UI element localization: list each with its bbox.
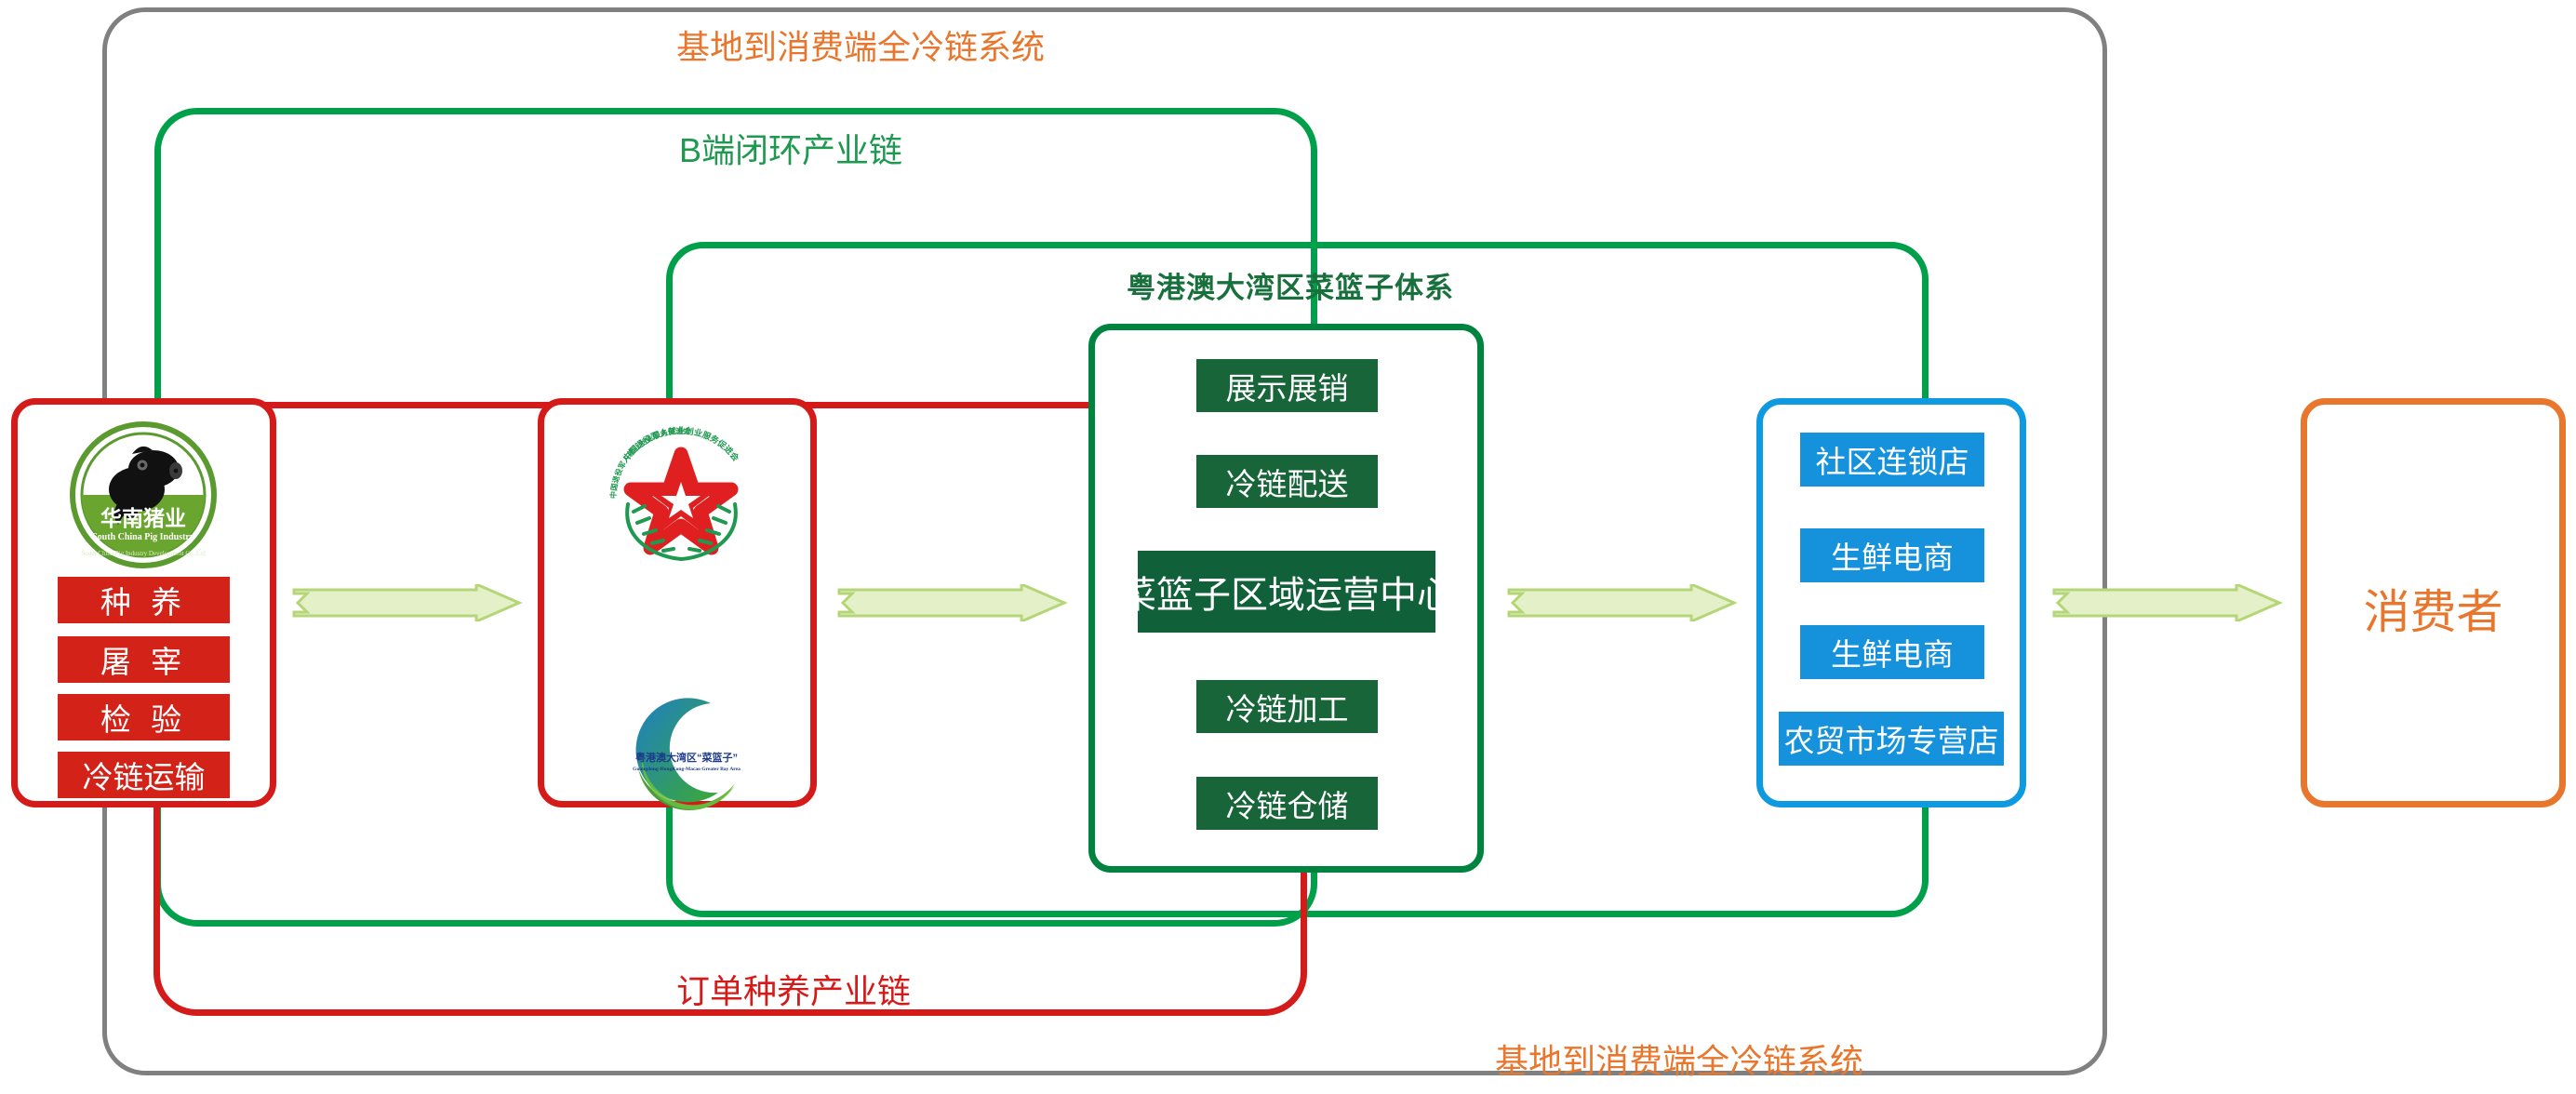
greater-bay-area-vegetable-basket-emblem: 粤港澳大湾区“菜篮子” Guangdong-HongKong-Macao Gre… [614, 688, 752, 814]
caption-cold-chain-top: 基地到消费端全冷链系统 [676, 20, 1045, 69]
caption-bay-area-system-title: 粤港澳大湾区菜篮子体系 [1127, 264, 1454, 306]
caption-order-farming-chain: 订单种养产业链 [676, 965, 911, 1013]
tile-retail-0[interactable]: 社区连锁店 [1800, 433, 1984, 487]
diagram-canvas: 基地到消费端全冷链系统 B端闭环产业链 订单种养产业链 基地到消费端全冷链系统 … [0, 0, 2576, 1094]
svg-text:粤港澳大湾区“菜篮子”: 粤港澳大湾区“菜篮子” [635, 751, 738, 764]
caption-b-end-closed-loop: B端闭环产业链 [679, 124, 902, 172]
tile-bay-1[interactable]: 冷链配送 [1196, 455, 1378, 508]
tile-farm-2[interactable]: 检 验 [58, 694, 230, 740]
svg-text:South China Pig Industry: South China Pig Industry [92, 532, 194, 542]
tile-retail-3[interactable]: 农贸市场专营店 [1779, 712, 2004, 766]
tile-retail-2[interactable]: 生鲜电商 [1800, 625, 1984, 679]
label-consumer: 消费者 [2301, 575, 2566, 642]
caption-cold-chain-bottom: 基地到消费端全冷链系统 [1495, 1034, 1863, 1083]
tile-bay-3[interactable]: 冷链加工 [1196, 680, 1378, 733]
tile-bay-2-main[interactable]: 菜篮子区域运营中心 [1138, 551, 1435, 633]
tile-farm-0[interactable]: 种 养 [58, 577, 230, 623]
svg-text:Guangdong-HongKong-Macao Great: Guangdong-HongKong-Macao Greater Bay Are… [633, 767, 741, 772]
south-china-pig-industry-logo: 华南猪业 South China Pig Industry South Chin… [44, 420, 244, 569]
tile-bay-4[interactable]: 冷链仓储 [1196, 777, 1378, 830]
tile-farm-3[interactable]: 冷链运输 [58, 752, 230, 798]
tile-farm-1[interactable]: 屠 宰 [58, 636, 230, 683]
veterans-employment-association-emblem: 中国退役军人就业创业服务促进会 中国退役军人就业创业服务促进会 [600, 419, 763, 581]
arrow-farm-to-certifications [290, 584, 523, 621]
tile-retail-1[interactable]: 生鲜电商 [1800, 528, 1984, 582]
arrow-retail-to-consumer [2050, 584, 2283, 621]
svg-text:South China Pig Industry Devel: South China Pig Industry Development Co.… [81, 550, 206, 557]
tile-bay-0[interactable]: 展示展销 [1196, 359, 1378, 412]
arrow-bay-to-retail [1505, 584, 1738, 621]
arrow-certifications-to-bay [835, 584, 1068, 621]
svg-text:华南猪业: 华南猪业 [100, 506, 186, 530]
